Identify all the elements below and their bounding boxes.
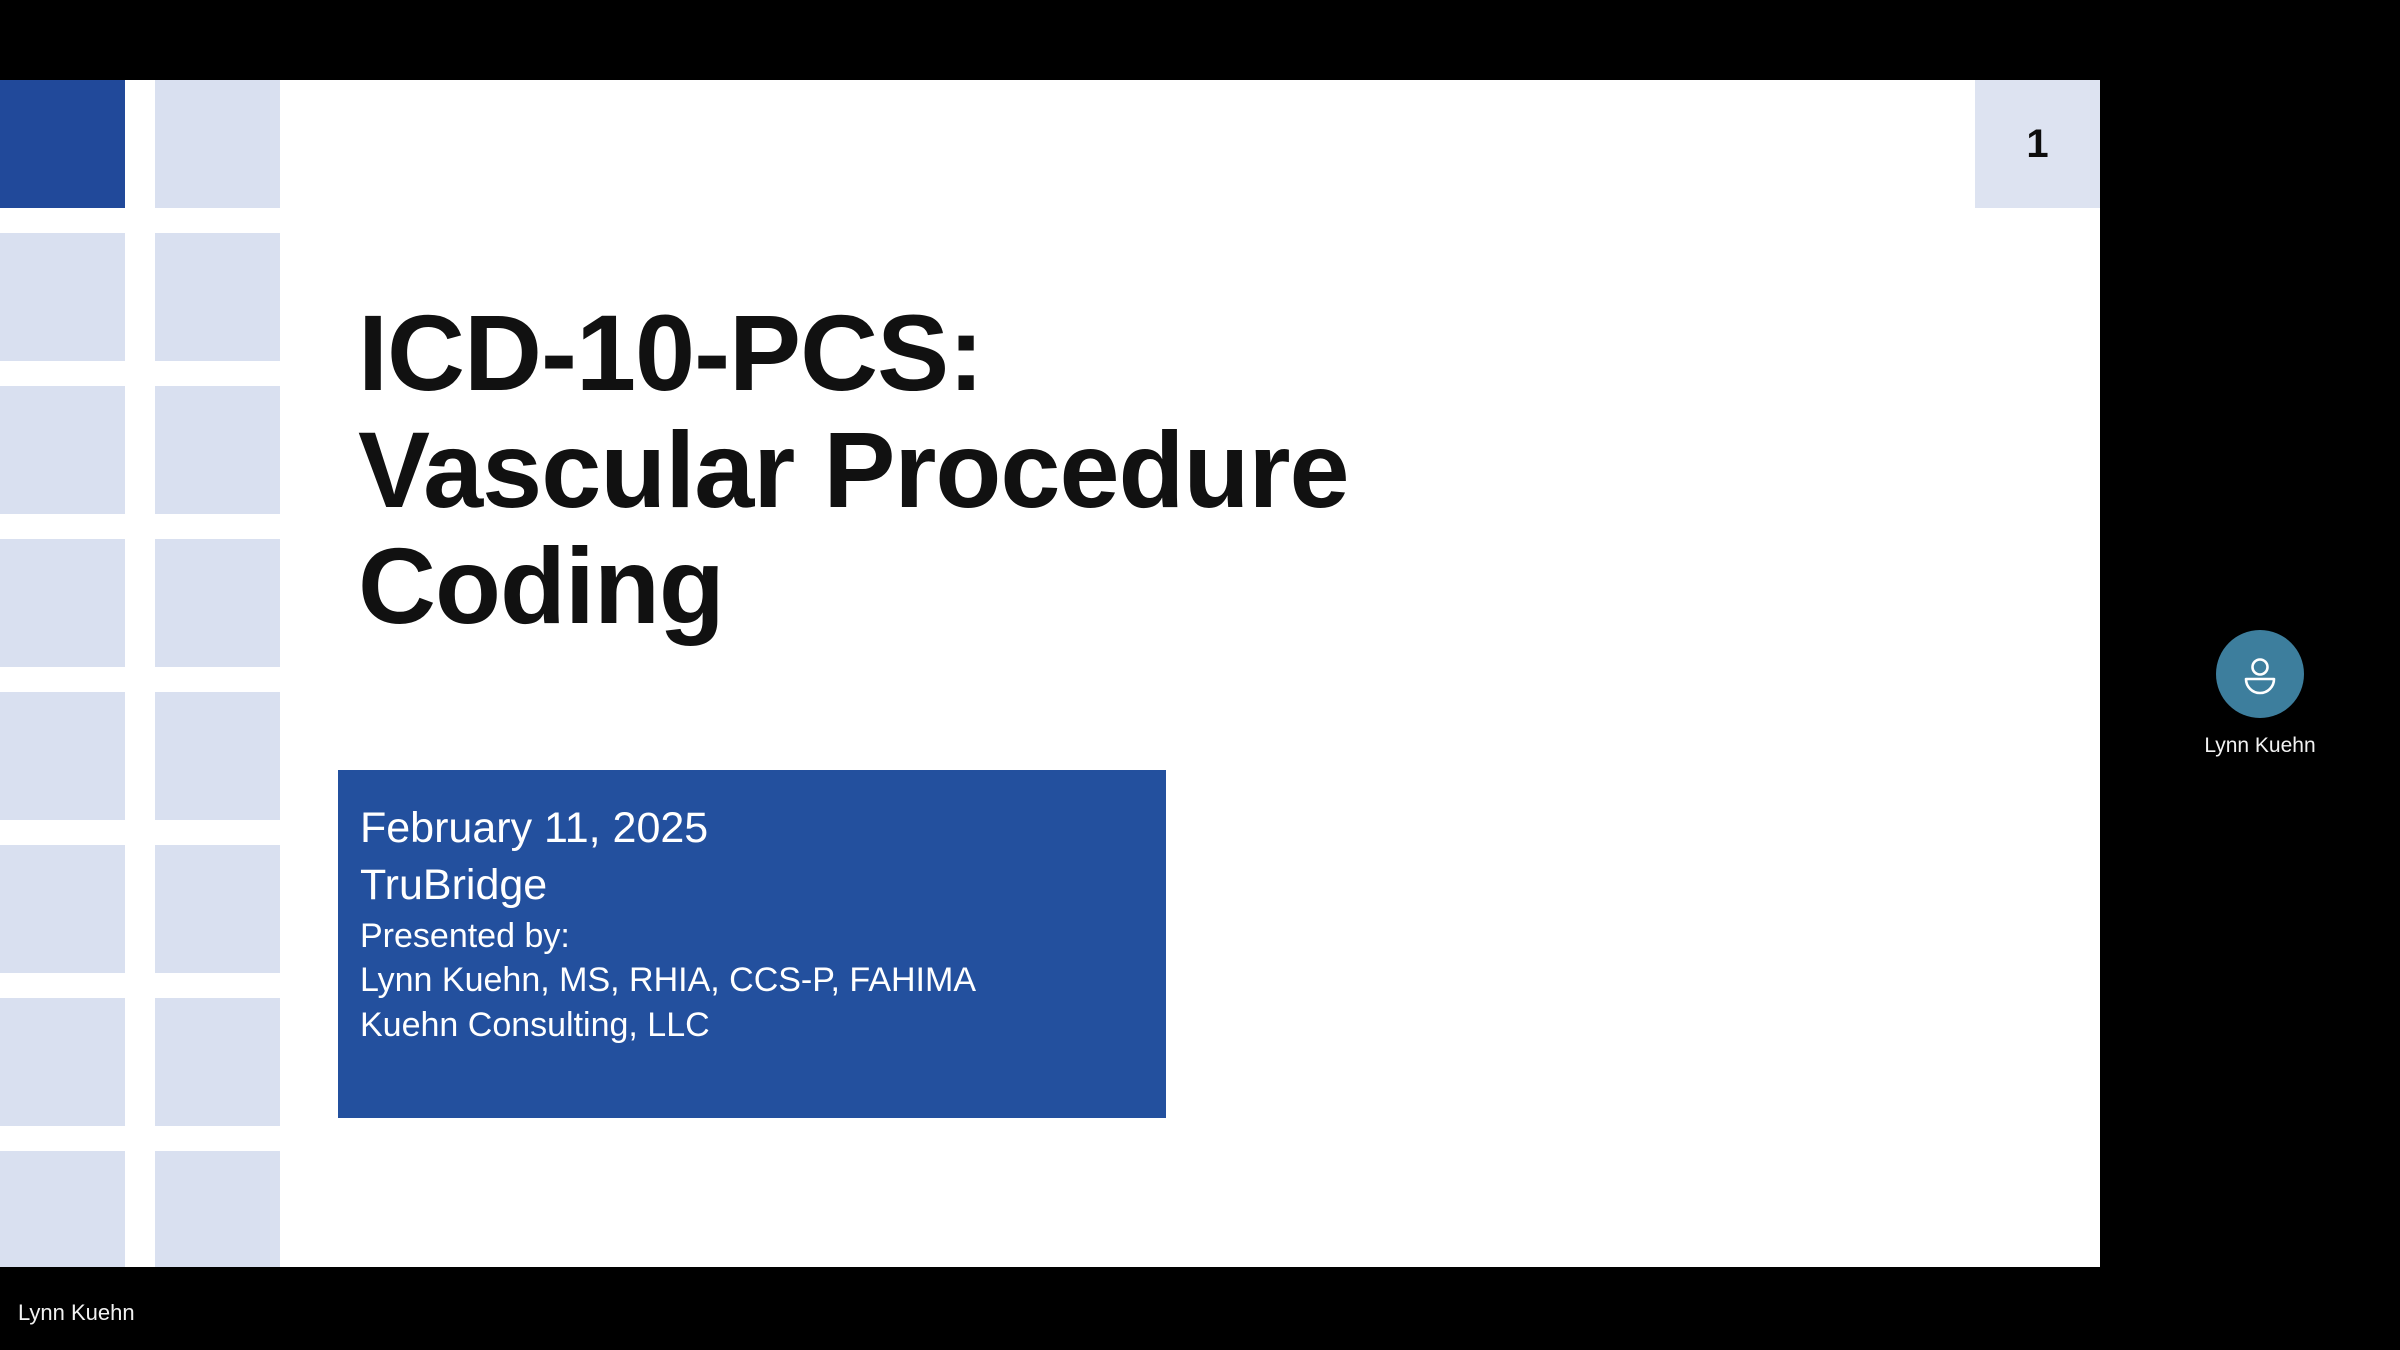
meeting-stage: 1 ICD-10-PCS: Vascular Procedure Coding … — [0, 0, 2400, 1350]
grid-tile — [155, 233, 280, 361]
shared-slide[interactable]: 1 ICD-10-PCS: Vascular Procedure Coding … — [0, 80, 2100, 1267]
grid-tile — [0, 233, 125, 361]
grid-tile — [0, 998, 125, 1126]
slide-page-number: 1 — [2026, 124, 2048, 164]
participant-name: Lynn Kuehn — [2204, 734, 2315, 758]
grid-tile — [0, 539, 125, 667]
info-panel-line: TruBridge — [360, 857, 1166, 914]
grid-tile — [0, 692, 125, 820]
participant-tile-lynn-kuehn[interactable]: Lynn Kuehn — [2180, 630, 2340, 758]
grid-tile — [155, 386, 280, 514]
grid-tile — [155, 539, 280, 667]
grid-tile — [155, 1151, 280, 1267]
slide-title: ICD-10-PCS: Vascular Procedure Coding — [358, 295, 1658, 645]
avatar — [2216, 630, 2304, 718]
info-panel-line: February 11, 2025 — [360, 800, 1166, 857]
grid-tile — [0, 386, 125, 514]
grid-tile — [155, 845, 280, 973]
grid-tile — [155, 998, 280, 1126]
grid-tile — [0, 80, 125, 208]
slide-info-panel: February 11, 2025TruBridgePresented by:L… — [338, 770, 1166, 1118]
person-avatar-icon — [2238, 652, 2282, 696]
info-panel-line: Kuehn Consulting, LLC — [360, 1003, 1166, 1048]
grid-tile — [155, 692, 280, 820]
info-panel-line: Lynn Kuehn, MS, RHIA, CCS-P, FAHIMA — [360, 958, 1166, 1003]
active-speaker-label: Lynn Kuehn — [18, 1300, 135, 1326]
grid-tile — [155, 80, 280, 208]
info-panel-line: Presented by: — [360, 914, 1166, 959]
slide-page-number-chip: 1 — [1975, 80, 2100, 208]
grid-tile — [0, 845, 125, 973]
grid-tile — [0, 1151, 125, 1267]
